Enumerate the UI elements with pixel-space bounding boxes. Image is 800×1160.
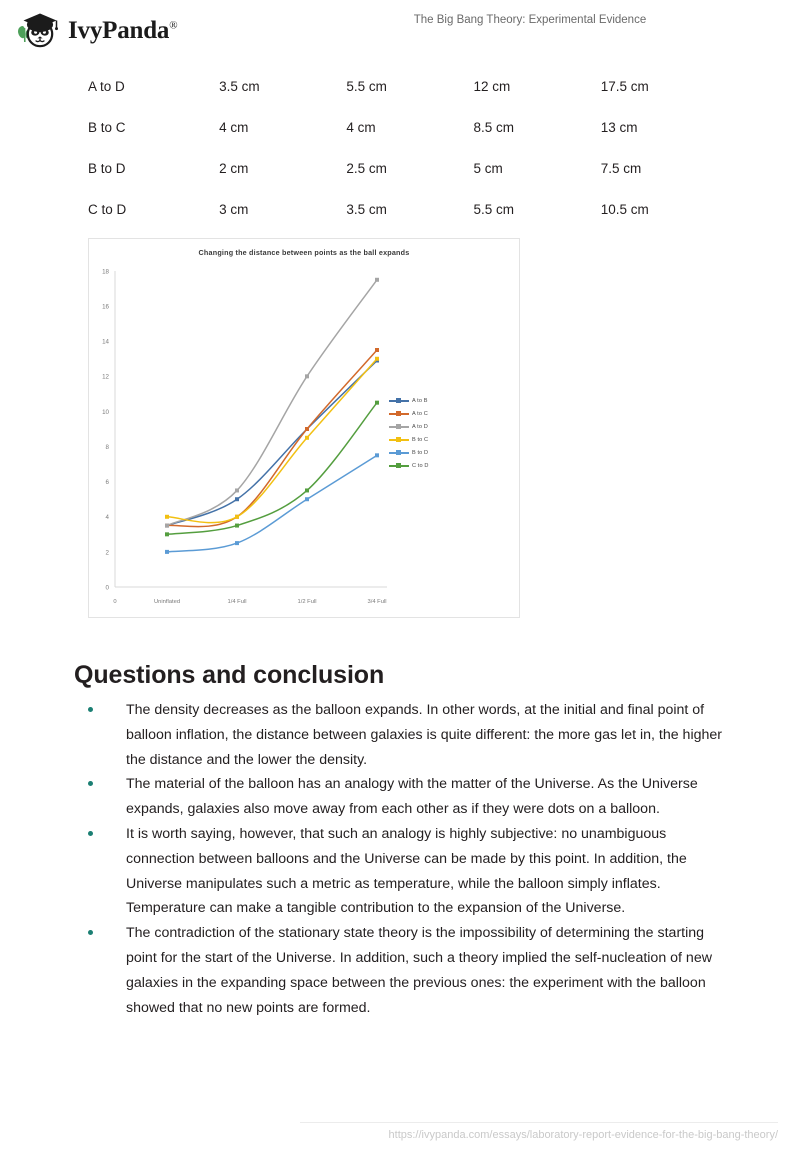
svg-text:0: 0 [113,599,116,605]
legend-color-swatch-icon [389,452,409,454]
svg-text:18: 18 [102,268,109,275]
chart-legend: A to BA to CA to DB to CB to DC to D [389,394,469,472]
svg-text:8: 8 [106,444,110,451]
svg-text:6: 6 [106,479,110,486]
row-label: A to D [88,66,219,107]
cell-quarter: 2.5 cm [346,148,473,189]
svg-text:0: 0 [106,584,110,591]
svg-text:1/2 Full: 1/2 Full [297,599,316,605]
cell-three-quarter: 10.5 cm [601,189,728,230]
legend-label: A to C [412,411,428,417]
row-label: B to C [88,107,219,148]
list-item: It is worth saying, however, that such a… [74,822,724,921]
legend-item[interactable]: A to C [389,407,469,420]
table-row: B to C 4 cm 4 cm 8.5 cm 13 cm [88,107,728,148]
bullet-dot-icon [88,707,93,712]
cell-quarter: 4 cm [346,107,473,148]
series-b-to-d [165,453,379,554]
svg-text:12: 12 [102,374,109,381]
legend-item[interactable]: A to B [389,394,469,407]
page-title: Questions and conclusion [74,661,384,690]
bullet-dot-icon [88,930,93,935]
cell-three-quarter: 7.5 cm [601,148,728,189]
measurements-table: A to D 3.5 cm 5.5 cm 12 cm 17.5 cm B to … [88,66,728,230]
list-item: The density decreases as the balloon exp… [74,698,724,772]
table-row: C to D 3 cm 3.5 cm 5.5 cm 10.5 cm [88,189,728,230]
svg-text:Uninflated: Uninflated [154,599,180,605]
document-title: The Big Bang Theory: Experimental Eviden… [0,14,800,26]
row-label: C to D [88,189,219,230]
cell-three-quarter: 17.5 cm [601,66,728,107]
table-row: A to D 3.5 cm 5.5 cm 12 cm 17.5 cm [88,66,728,107]
legend-label: B to C [412,437,428,443]
cell-half: 5.5 cm [474,189,601,230]
source-url[interactable]: https://ivypanda.com/essays/laboratory-r… [0,1129,778,1141]
footer-divider [300,1122,778,1123]
svg-text:14: 14 [102,339,109,346]
svg-text:16: 16 [102,304,109,311]
legend-color-swatch-icon [389,400,409,402]
legend-label: C to D [412,463,428,469]
legend-item[interactable]: B to D [389,446,469,459]
expansion-line-chart: Changing the distance between points as … [88,238,520,618]
legend-color-swatch-icon [389,413,409,415]
svg-text:3/4 Full: 3/4 Full [367,599,386,605]
legend-color-swatch-icon [389,426,409,428]
list-item-text: The density decreases as the balloon exp… [126,702,722,768]
conclusions-list: The density decreases as the balloon exp… [74,698,724,1020]
bullet-dot-icon [88,831,93,836]
table-row: B to D 2 cm 2.5 cm 5 cm 7.5 cm [88,148,728,189]
svg-text:2: 2 [106,549,110,556]
cell-half: 12 cm [474,66,601,107]
legend-label: A to B [412,398,428,404]
cell-uninflated: 3.5 cm [219,66,346,107]
cell-quarter: 5.5 cm [346,66,473,107]
legend-item[interactable]: C to D [389,459,469,472]
legend-label: B to D [412,450,428,456]
bullet-dot-icon [88,781,93,786]
series-a-to-d [165,278,379,528]
row-label: B to D [88,148,219,189]
legend-label: A to D [412,424,428,430]
svg-text:10: 10 [102,409,109,416]
cell-half: 8.5 cm [474,107,601,148]
legend-color-swatch-icon [389,465,409,467]
series-b-to-c [165,357,379,523]
cell-quarter: 3.5 cm [346,189,473,230]
list-item-text: It is worth saying, however, that such a… [126,826,687,916]
cell-uninflated: 2 cm [219,148,346,189]
page-header: IvyPanda® The Big Bang Theory: Experimen… [0,0,800,56]
svg-text:4: 4 [106,514,110,521]
legend-item[interactable]: B to C [389,433,469,446]
cell-three-quarter: 13 cm [601,107,728,148]
list-item: The material of the balloon has an analo… [74,772,724,822]
table-body: A to D 3.5 cm 5.5 cm 12 cm 17.5 cm B to … [88,66,728,230]
list-item-text: The contradiction of the stationary stat… [126,925,712,1015]
cell-uninflated: 3 cm [219,189,346,230]
svg-text:1/4 Full: 1/4 Full [227,599,246,605]
list-item: The contradiction of the stationary stat… [74,921,724,1020]
legend-color-swatch-icon [389,439,409,441]
legend-item[interactable]: A to D [389,420,469,433]
list-item-text: The material of the balloon has an analo… [126,776,698,817]
cell-uninflated: 4 cm [219,107,346,148]
cell-half: 5 cm [474,148,601,189]
